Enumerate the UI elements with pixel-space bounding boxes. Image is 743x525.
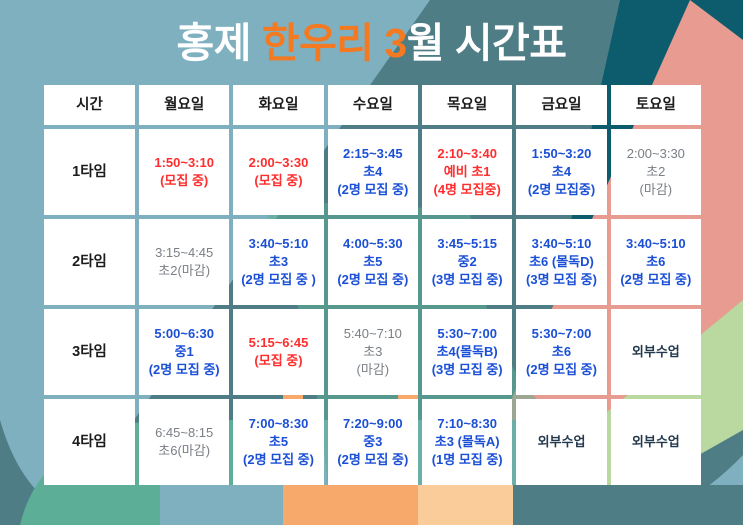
schedule-cell-r2-c3[interactable]: 4:00~5:30초5(2명 모집 중) [328, 219, 418, 305]
cell-line: 7:10~8:30 [437, 415, 497, 433]
cell-line: 3:15~4:45 [155, 244, 213, 262]
header-cell-day-1: 월요일 [139, 85, 229, 125]
cell-line: 초6 [552, 343, 571, 361]
cell-line: 3:40~5:10 [626, 235, 686, 253]
bg-block-green-strip [40, 485, 160, 525]
cell-line: 2:00~3:30 [249, 154, 309, 172]
header-cell-day-6: 토요일 [611, 85, 701, 125]
schedule-cell-r1-c2[interactable]: 2:00~3:30(모집 중) [233, 129, 323, 215]
cell-line: (3명 모집 중) [432, 361, 503, 379]
cell-line: (2명 모집 중) [337, 181, 408, 199]
cell-line: 초6 (몰독D) [529, 253, 594, 271]
cell-line: 외부수업 [632, 433, 680, 451]
cell-line: 5:15~6:45 [249, 334, 309, 352]
header-cell-time: 시간 [44, 85, 135, 125]
cell-line: 외부수업 [632, 343, 680, 361]
cell-line: 1:50~3:10 [154, 154, 214, 172]
cell-line: 초4(몰독B) [437, 343, 498, 361]
cell-line: 중3 [363, 433, 382, 451]
schedule-cell-r4-c6[interactable]: 외부수업 [611, 399, 701, 485]
cell-line: 7:00~8:30 [249, 415, 309, 433]
cell-line: 3:40~5:10 [532, 235, 592, 253]
schedule-cell-r3-c5[interactable]: 5:30~7:00초6(2명 모집 중) [516, 309, 606, 395]
schedule-cell-r4-c4[interactable]: 7:10~8:30초3 (몰독A)(1명 모집 중) [422, 399, 512, 485]
header-cell-day-5: 금요일 [516, 85, 606, 125]
cell-line: 2:15~3:45 [343, 145, 403, 163]
cell-line: 5:40~7:10 [344, 325, 402, 343]
cell-line: 초5 [269, 433, 288, 451]
row-label-1: 1타임 [44, 129, 135, 215]
schedule-cell-r1-c3[interactable]: 2:15~3:45초4(2명 모집 중) [328, 129, 418, 215]
cell-line: 4:00~5:30 [343, 235, 403, 253]
cell-line: (2명 모집 중) [620, 271, 691, 289]
cell-line: 3:45~5:15 [437, 235, 497, 253]
schedule-cell-r2-c2[interactable]: 3:40~5:10초3(2명 모집 중 ) [233, 219, 323, 305]
schedule-cell-r1-c5[interactable]: 1:50~3:20초4(2명 모집중) [516, 129, 606, 215]
cell-line: (2명 모집중) [528, 181, 595, 199]
cell-line: 초4 [363, 163, 382, 181]
cell-line: (2명 모집 중) [243, 451, 314, 469]
schedule-cell-r4-c5[interactable]: 외부수업 [516, 399, 606, 485]
schedule-cell-r4-c2[interactable]: 7:00~8:30초5(2명 모집 중) [233, 399, 323, 485]
bg-block-orange-pale [418, 485, 513, 525]
schedule-cell-r4-c1[interactable]: 6:45~8:15초6(마감) [139, 399, 229, 485]
schedule-cell-r2-c5[interactable]: 3:40~5:10초6 (몰독D)(3명 모집 중) [516, 219, 606, 305]
cell-line: (모집 중) [254, 172, 302, 190]
schedule-cell-r3-c1[interactable]: 5:00~6:30중1(2명 모집 중) [139, 309, 229, 395]
cell-line: (마감) [640, 181, 673, 199]
cell-line: 2:10~3:40 [437, 145, 497, 163]
cell-line: (2명 모집 중) [337, 451, 408, 469]
schedule-table: 시간월요일화요일수요일목요일금요일토요일1타임1:50~3:10(모집 중)2:… [44, 85, 701, 485]
cell-line: 초6 [646, 253, 665, 271]
cell-line: 외부수업 [538, 433, 586, 451]
cell-line: (1명 모집 중) [432, 451, 503, 469]
schedule-cell-r4-c3[interactable]: 7:20~9:00중3(2명 모집 중) [328, 399, 418, 485]
cell-line: (2명 모집 중) [149, 361, 220, 379]
cell-line: (2명 모집 중 ) [241, 271, 316, 289]
schedule-cell-r2-c6[interactable]: 3:40~5:10초6(2명 모집 중) [611, 219, 701, 305]
header-cell-day-2: 화요일 [233, 85, 323, 125]
cell-line: (2명 모집 중) [337, 271, 408, 289]
cell-line: (모집 중) [254, 352, 302, 370]
schedule-cell-r1-c6[interactable]: 2:00~3:30초2(마감) [611, 129, 701, 215]
schedule-cell-r1-c4[interactable]: 2:10~3:40예비 초1(4명 모집중) [422, 129, 512, 215]
row-label-3: 3타임 [44, 309, 135, 395]
cell-line: 초5 [363, 253, 382, 271]
cell-line: 5:30~7:00 [532, 325, 592, 343]
cell-line: 1:50~3:20 [532, 145, 592, 163]
cell-line: 7:20~9:00 [343, 415, 403, 433]
cell-line: 초2 [646, 163, 665, 181]
schedule-cell-r3-c4[interactable]: 5:30~7:00초4(몰독B)(3명 모집 중) [422, 309, 512, 395]
schedule-cell-r2-c4[interactable]: 3:45~5:15중2(3명 모집 중) [422, 219, 512, 305]
cell-line: (마감) [357, 361, 390, 379]
cell-line: 3:40~5:10 [249, 235, 309, 253]
cell-line: 중1 [175, 343, 194, 361]
cell-line: (3명 모집 중) [526, 271, 597, 289]
cell-line: 초4 [552, 163, 571, 181]
cell-line: 5:00~6:30 [154, 325, 214, 343]
cell-line: (2명 모집 중) [526, 361, 597, 379]
schedule-cell-r3-c2[interactable]: 5:15~6:45(모집 중) [233, 309, 323, 395]
schedule-cell-r1-c1[interactable]: 1:50~3:10(모집 중) [139, 129, 229, 215]
schedule-cell-r3-c3[interactable]: 5:40~7:10초3(마감) [328, 309, 418, 395]
header-cell-day-4: 목요일 [422, 85, 512, 125]
cell-line: (4명 모집중) [433, 181, 500, 199]
row-label-4: 4타임 [44, 399, 135, 485]
cell-line: 2:00~3:30 [627, 145, 685, 163]
cell-line: (모집 중) [160, 172, 208, 190]
cell-line: 6:45~8:15 [155, 424, 213, 442]
cell-line: (3명 모집 중) [432, 271, 503, 289]
cell-line: 초3 [269, 253, 288, 271]
bg-block-slate-strip [513, 485, 743, 525]
cell-line: 5:30~7:00 [437, 325, 497, 343]
cell-line: 중2 [458, 253, 477, 271]
row-label-2: 2타임 [44, 219, 135, 305]
cell-line: 초3 [363, 343, 382, 361]
schedule-cell-r2-c1[interactable]: 3:15~4:45초2(마감) [139, 219, 229, 305]
bg-block-blue-strip [160, 485, 283, 525]
cell-line: 초2(마감) [158, 262, 210, 280]
cell-line: 예비 초1 [444, 163, 491, 181]
cell-line: 초6(마감) [158, 442, 210, 460]
cell-line: 초3 (몰독A) [435, 433, 500, 451]
schedule-cell-r3-c6[interactable]: 외부수업 [611, 309, 701, 395]
header-cell-day-3: 수요일 [328, 85, 418, 125]
bg-block-orange [283, 485, 418, 525]
